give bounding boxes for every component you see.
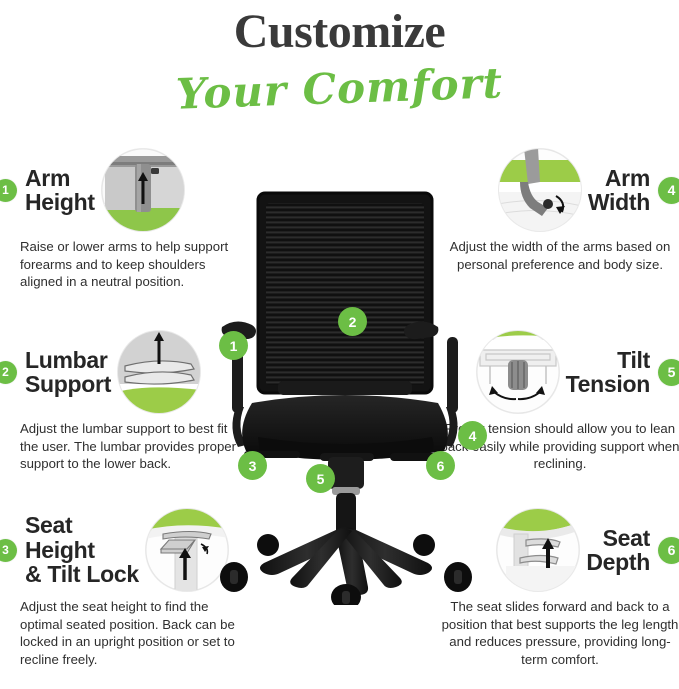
- feature-number-badge: 1: [0, 179, 17, 202]
- page-subtitle: Your Comfort: [0, 56, 679, 122]
- chair-callout-5: 5: [306, 464, 335, 493]
- feature-number-badge: 4: [658, 177, 679, 204]
- feature-number-badge: 5: [658, 359, 679, 386]
- arm-height-thumbnail: [101, 148, 185, 232]
- feature-title: Tilt Tension: [566, 348, 650, 397]
- chair-callout-6: 6: [426, 451, 455, 480]
- lumbar-support-thumbnail: [117, 330, 201, 414]
- chair-callout-3: 3: [238, 451, 267, 480]
- feature-number-badge: 3: [0, 539, 17, 562]
- feature-title: Seat Depth: [586, 526, 650, 575]
- chair-callout-1: 1: [219, 331, 248, 360]
- feature-description: Adjust the seat height to find the optim…: [0, 598, 244, 669]
- feature-title: Seat Height & Tilt Lock: [25, 513, 139, 586]
- feature-title: Lumbar Support: [25, 348, 111, 397]
- office-chair-image: [200, 185, 490, 605]
- infographic-canvas: Customize Your Comfort 1 Arm Height: [0, 0, 679, 689]
- feature-description: The seat slides forward and back to a po…: [435, 598, 679, 669]
- feature-number-badge: 6: [658, 537, 679, 564]
- feature-number-badge: 2: [0, 361, 17, 384]
- arm-width-thumbnail: [498, 148, 582, 232]
- feature-title: Arm Height: [25, 166, 95, 215]
- chair-callout-2: 2: [338, 307, 367, 336]
- feature-title: Arm Width: [588, 166, 650, 215]
- seat-depth-thumbnail: [496, 508, 580, 592]
- page-header: Customize Your Comfort: [0, 0, 679, 130]
- chair-callout-4: 4: [458, 421, 487, 450]
- page-title: Customize: [0, 0, 679, 56]
